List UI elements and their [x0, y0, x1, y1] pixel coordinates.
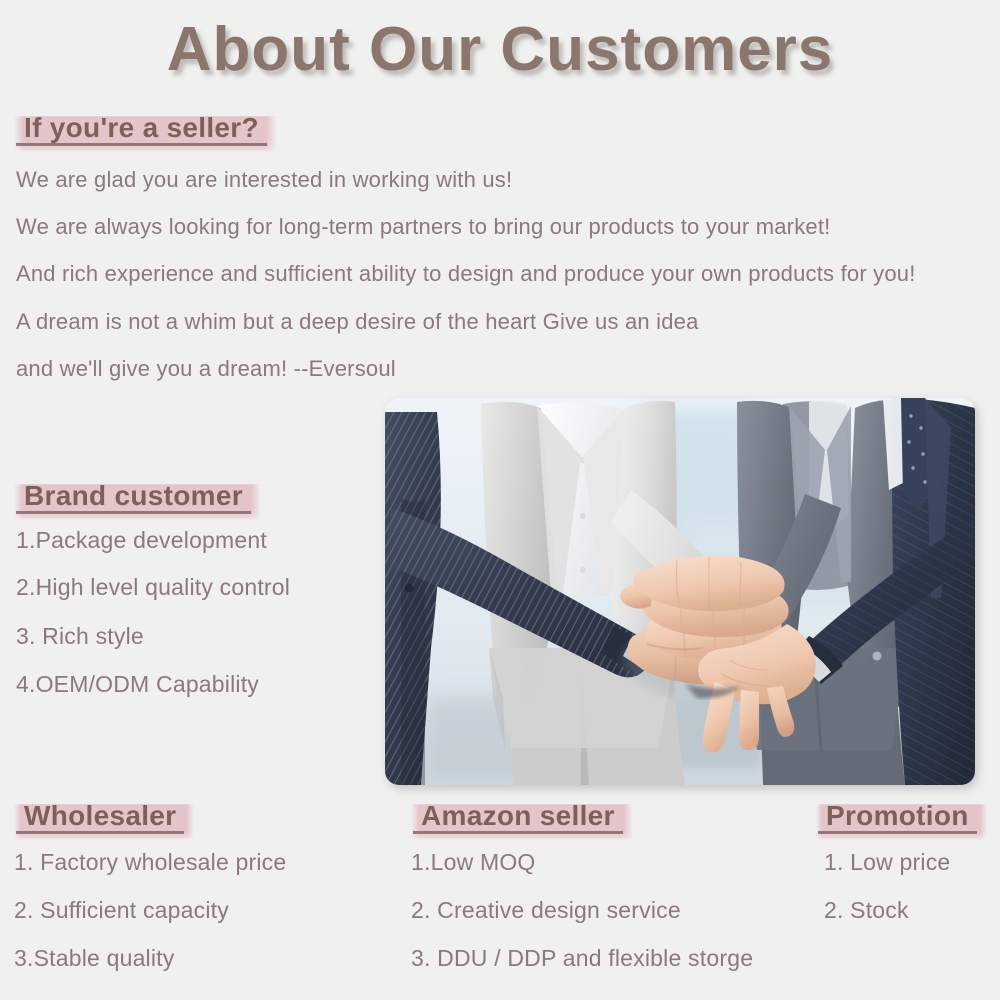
heading-promotion: Promotion	[816, 798, 981, 835]
list-item: 2. Sufficient capacity	[14, 897, 229, 924]
list-item: 3.Stable quality	[14, 945, 174, 972]
about-our-customers-page: About Our Customers If you're a seller? …	[0, 0, 1000, 1000]
list-item: 2. Stock	[824, 897, 909, 924]
heading-if-youre-a-seller: If you're a seller?	[14, 110, 271, 147]
heading-wholesaler: Wholesaler	[14, 798, 188, 835]
list-item: 1. Low price	[824, 849, 950, 876]
heading-brand-customer: Brand customer	[14, 478, 255, 515]
heading-label: Promotion	[826, 800, 969, 831]
list-item: 1.Low MOQ	[411, 849, 536, 876]
heading-underline	[16, 511, 251, 514]
seller-signature-line: and we'll give you a dream! --Eversoul	[16, 356, 396, 382]
list-item: 1.Package development	[16, 527, 267, 554]
seller-line: We are always looking for long-term part…	[16, 214, 830, 240]
page-title: About Our Customers	[0, 14, 1000, 85]
heading-label: Wholesaler	[24, 800, 176, 831]
heading-label: Brand customer	[24, 480, 243, 511]
list-item: 3. Rich style	[16, 623, 144, 650]
seller-line: And rich experience and sufficient abili…	[16, 261, 916, 287]
heading-underline	[16, 831, 184, 834]
list-item: 4.OEM/ODM Capability	[16, 671, 259, 698]
list-item: 2. Creative design service	[411, 897, 681, 924]
teamwork-handstack-photo	[385, 398, 975, 785]
list-item: 1. Factory wholesale price	[14, 849, 286, 876]
heading-underline	[413, 831, 623, 834]
seller-line: A dream is not a whim but a deep desire …	[16, 309, 699, 335]
list-item: 2.High level quality control	[16, 574, 290, 601]
heading-underline	[818, 831, 977, 834]
list-item: 3. DDU / DDP and flexible storge	[411, 945, 753, 972]
teamwork-handstack-illustration	[385, 398, 975, 785]
heading-label: If you're a seller?	[24, 112, 259, 143]
heading-amazon-seller: Amazon seller	[411, 798, 627, 835]
heading-underline	[16, 143, 267, 146]
heading-label: Amazon seller	[421, 800, 615, 831]
seller-line: We are glad you are interested in workin…	[16, 167, 512, 193]
